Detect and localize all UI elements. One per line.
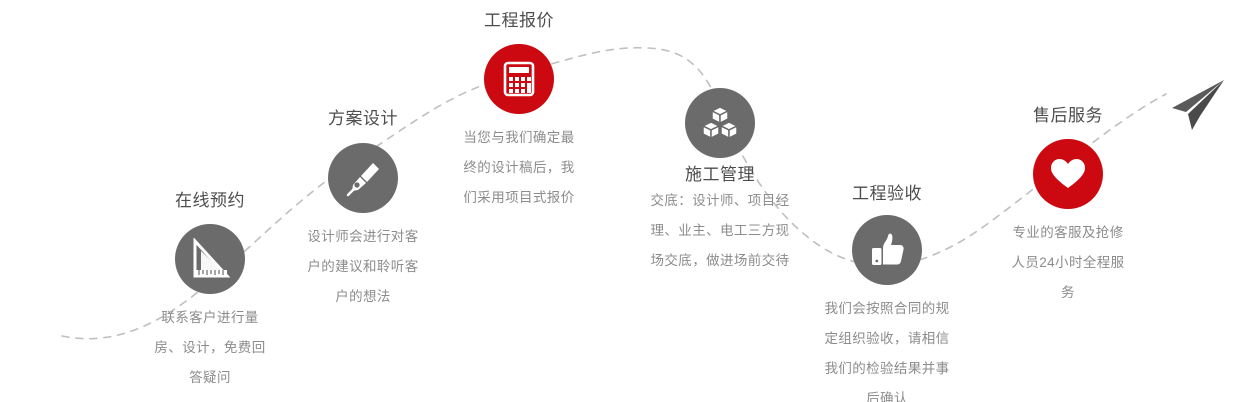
- pen-nib-icon: [328, 143, 398, 213]
- boxes-icon: [685, 88, 755, 158]
- flow-step-5-description: 我们会按照合同的规 定组织验收，请相信 我们的检验结果并事 后确认: [772, 294, 1002, 402]
- desc-line: 人员24小时全程服: [963, 248, 1173, 278]
- desc-line: 设计师会进行对客: [258, 222, 468, 252]
- desc-line: 后确认: [772, 384, 1002, 402]
- flow-step-6[interactable]: 售后服务 专业的客服及抢修 人员24小时全程服 务: [963, 105, 1173, 308]
- thumbs-up-icon: [852, 215, 922, 285]
- flow-step-5-icon-wrap: [782, 215, 992, 285]
- flow-step-3[interactable]: 工程报价: [414, 10, 624, 213]
- heart-icon: [1033, 139, 1103, 209]
- desc-line: 定组织验收，请相信: [772, 324, 1002, 354]
- desc-line: 我们的检验结果并事: [772, 354, 1002, 384]
- desc-line: 终的设计稿后，我: [414, 153, 624, 183]
- desc-line: 专业的客服及抢修: [963, 218, 1173, 248]
- flow-step-6-title: 售后服务: [963, 105, 1173, 127]
- ruler-triangle-icon: [175, 224, 245, 294]
- flow-step-1-description: 联系客户进行量 房、设计，免费回 答疑问: [105, 303, 315, 393]
- flow-step-6-icon-wrap: [963, 139, 1173, 209]
- desc-line: 房、设计，免费回: [105, 333, 315, 363]
- desc-line: 答疑问: [105, 363, 315, 393]
- process-flow-diagram: 在线预约: [0, 0, 1245, 402]
- flow-step-6-description: 专业的客服及抢修 人员24小时全程服 务: [963, 218, 1173, 308]
- flow-step-4-icon-wrap: [615, 88, 825, 158]
- desc-line: 户的想法: [258, 282, 468, 312]
- desc-line: 户的建议和聆听客: [258, 252, 468, 282]
- flow-step-5[interactable]: 工程验收 我们会按照合同的规 定组织验收，请相信 我们的检验结果并事 后确认: [782, 183, 992, 402]
- flow-step-3-icon-wrap: [414, 44, 624, 114]
- flow-step-3-description: 当您与我们确定最 终的设计稿后，我 们采用项目式报价: [414, 123, 624, 213]
- flow-step-5-title: 工程验收: [782, 183, 992, 205]
- desc-line: 当您与我们确定最: [414, 123, 624, 153]
- calculator-icon: [484, 44, 554, 114]
- desc-line: 们采用项目式报价: [414, 183, 624, 213]
- flow-step-2-description: 设计师会进行对客 户的建议和聆听客 户的想法: [258, 222, 468, 312]
- flow-step-3-title: 工程报价: [414, 10, 624, 32]
- desc-line: 务: [963, 278, 1173, 308]
